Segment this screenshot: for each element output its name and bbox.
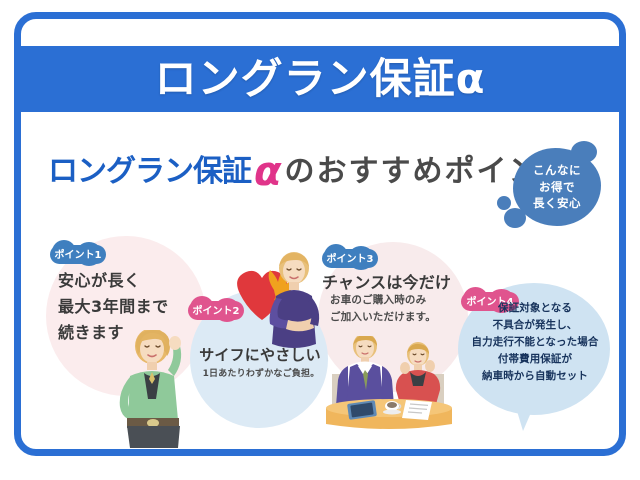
top-bubble-line-2: お得で [539,179,575,196]
poster-title: ロングラン保証α [155,58,486,100]
heading-alpha-symbol: α [251,149,284,195]
page-title: ロングラン保証αのおすすめポイント [48,152,572,192]
point-4-text: 保証対象となる 不具合が発生し、 自力走行不能となった場合 付帯費用保証が 納車… [456,300,614,385]
point-3-badge-label: ポイント3 [322,244,378,270]
point-1-badge-label: ポイント1 [50,240,106,266]
point-4-line-1: 保証対象となる [456,300,614,317]
point-3-headline: チャンスは今だけ [322,269,451,293]
point-4-line-2: 不具合が発生し、 [456,317,614,334]
point-4-bubble-tail [514,401,536,431]
bubble-trail-dot [497,196,511,210]
point-3-subtext-line-1: お車のご購入時のみ [330,292,436,309]
point-2-headline: サイフにやさしい [192,344,328,365]
title-band: ロングラン保証α [21,46,619,112]
top-speech-bubble: こんなに お得で 長く安心 [513,148,601,226]
illustration-couple-at-table [318,336,460,434]
point-2-badge-label: ポイント2 [188,296,244,322]
point-1-line-2: 最大3年間まで [58,294,169,320]
top-bubble-line-1: こんなに [533,162,581,179]
top-bubble-line-3: 長く安心 [533,195,581,212]
point-3-subtext-line-2: ご加入いただけます。 [330,309,436,326]
point-3-subtext: お車のご購入時のみ ご加入いただけます。 [330,292,436,326]
illustration-woman-holding-heart [232,252,328,356]
point-4-line-4: 付帯費用保証が [456,351,614,368]
point-1-badge: ポイント1 [50,240,106,266]
heading-brand: ロングラン保証 [48,154,251,189]
point-3-badge: ポイント3 [322,244,378,270]
illustration-woman-green-cardigan [100,330,184,448]
point-2-subtext: 1日あたりわずかなご負担。 [188,366,334,379]
point-1-line-1: 安心が長く [58,268,169,294]
warranty-poster: ロングラン保証α ロングラン保証αのおすすめポイント こんなに お得で 長く安心… [0,0,640,480]
point-4-line-3: 自力走行不能となった場合 [456,334,614,351]
point-2-badge: ポイント2 [188,296,244,322]
point-4-line-5: 納車時から自動セット [456,368,614,385]
